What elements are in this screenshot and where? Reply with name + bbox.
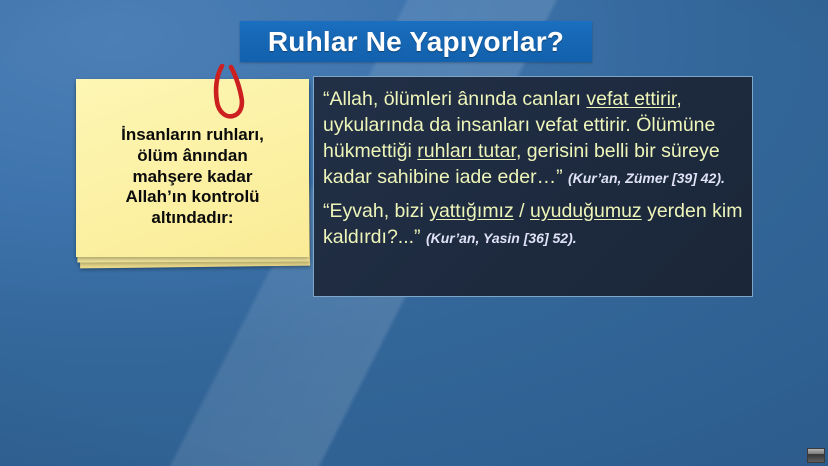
quote-1-emphasis-1: vefat ettirir <box>586 88 676 110</box>
quote-1: “Allah, ölümleri ânında canları vefat et… <box>323 87 744 191</box>
quote-2-citation: (Kur’an, Yasin [36] 52). <box>426 230 577 246</box>
quote-2: “Eyvah, bizi yattığımız / uyuduğumuz yer… <box>323 199 744 251</box>
quote-2-mid: / <box>514 200 530 222</box>
quote-2-emphasis-1: yattığımız <box>429 200 514 222</box>
corner-thumbnail-icon <box>807 448 825 463</box>
quote-1-lead: “Allah, ölümleri ânında canları <box>323 88 586 110</box>
quote-1-citation: (Kur’an, Zümer [39] 42). <box>568 170 725 186</box>
page-title: Ruhlar Ne Yapıyorlar? <box>268 26 564 58</box>
quote-box: “Allah, ölümleri ânında canları vefat et… <box>313 76 753 297</box>
sticky-note: İnsanların ruhları, ölüm ânından mahşere… <box>76 79 311 269</box>
corner-thumbnail-image <box>808 449 824 462</box>
quote-2-emphasis-2: uyuduğumuz <box>530 200 642 222</box>
quote-1-emphasis-2: ruhları tutar <box>417 140 516 162</box>
sticky-note-layer-front: İnsanların ruhları, ölüm ânından mahşere… <box>76 79 309 257</box>
slide-canvas: Ruhlar Ne Yapıyorlar? İnsanların ruhları… <box>0 0 828 466</box>
title-banner: Ruhlar Ne Yapıyorlar? <box>240 21 592 62</box>
sticky-note-text: İnsanların ruhları, ölüm ânından mahşere… <box>111 99 274 237</box>
quote-2-lead: “Eyvah, bizi <box>323 200 429 222</box>
